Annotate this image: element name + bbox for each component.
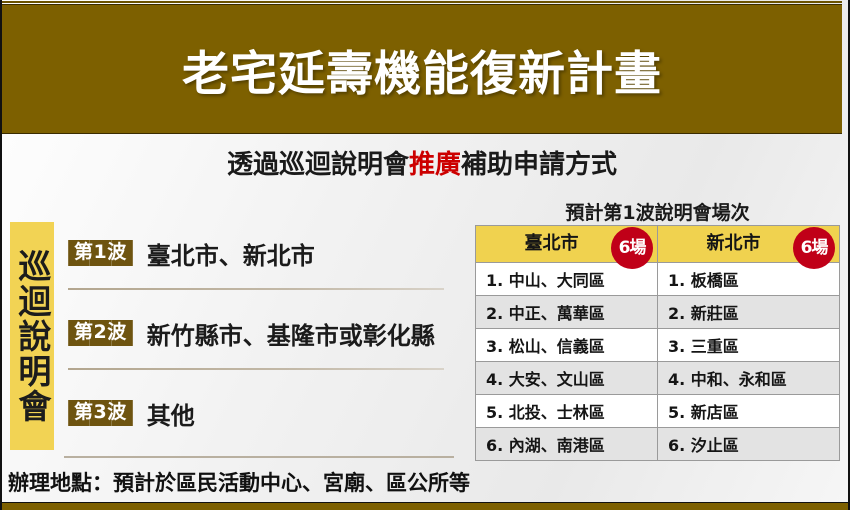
cell-taipei: 6. 內湖、南港區 [476,428,658,461]
schedule-table: 臺北市 6場 新北市 6場 1. 中山、大同區 1. 板橋區 2. 中正、萬華區 [475,225,840,461]
schedule-table-caption: 預計第1波說明會場次 [475,198,840,225]
cell-new-taipei: 6. 汐止區 [658,428,840,461]
title-banner: 老宅延壽機能復新計畫 [2,4,842,134]
table-row: 4. 大安、文山區 4. 中和、永和區 [476,362,840,395]
wave-badge: 第1波 [68,240,133,267]
page-title: 老宅延壽機能復新計畫 [182,35,662,104]
subtitle-before: 透過巡迴說明會 [227,150,409,180]
cell-taipei: 2. 中正、萬華區 [476,296,658,329]
vertical-side-banner: 巡迴說明會 [10,222,54,450]
wave-label: 其他 [147,396,195,431]
wave-label: 新竹縣市、基隆市或彰化縣 [147,316,435,351]
table-row: 5. 北投、士林區 5. 新店區 [476,395,840,428]
footer: 辦理地點：預計於區民活動中心、宮廟、區公所等 [2,462,842,502]
table-row: 2. 中正、萬華區 2. 新莊區 [476,296,840,329]
column-header-taipei: 臺北市 6場 [476,226,658,263]
table-row: 1. 中山、大同區 1. 板橋區 [476,263,840,296]
cell-taipei: 5. 北投、士林區 [476,395,658,428]
cell-new-taipei: 3. 三重區 [658,329,840,362]
cell-new-taipei: 5. 新店區 [658,395,840,428]
schedule-table-body: 1. 中山、大同區 1. 板橋區 2. 中正、萬華區 2. 新莊區 3. 松山、… [476,263,840,461]
cell-new-taipei: 4. 中和、永和區 [658,362,840,395]
wave-badge: 第2波 [68,320,133,347]
subtitle-highlight: 推廣 [409,150,461,180]
wave-list: 第1波 臺北市、新北市 第2波 新竹縣市、基隆市或彰化縣 第3波 其他 [68,226,460,466]
slide-root: 老宅延壽機能復新計畫 透過巡迴說明會推廣補助申請方式 巡迴說明會 第1波 臺北市… [0,0,850,510]
session-count-badge-taipei: 6場 [611,227,653,269]
column-header-taipei-label: 臺北市 [525,233,609,254]
footer-text: 辦理地點：預計於區民活動中心、宮廟、區公所等 [2,467,470,497]
wave-badge: 第3波 [68,400,133,427]
subtitle-after: 補助申請方式 [461,150,617,180]
table-row: 3. 松山、信義區 3. 三重區 [476,329,840,362]
session-count-badge-new-taipei: 6場 [793,227,835,269]
cell-new-taipei: 2. 新莊區 [658,296,840,329]
title-banner-top-edge [2,1,842,3]
cell-taipei: 3. 松山、信義區 [476,329,658,362]
wave-row: 第3波 其他 [68,386,460,466]
wave-row: 第2波 新竹縣市、基隆市或彰化縣 [68,306,460,386]
column-header-new-taipei-label: 新北市 [707,233,791,254]
table-header-row: 臺北市 6場 新北市 6場 [476,226,840,263]
wave-row: 第1波 臺北市、新北市 [68,226,460,306]
wave-divider [68,368,444,370]
schedule-table-head: 臺北市 6場 新北市 6場 [476,226,840,263]
vertical-side-banner-label: 巡迴說明會 [15,249,49,424]
column-header-new-taipei: 新北市 6場 [658,226,840,263]
table-row: 6. 內湖、南港區 6. 汐止區 [476,428,840,461]
wave-divider [68,288,444,290]
wave-label: 臺北市、新北市 [147,236,315,271]
bottom-accent-bar [2,502,848,510]
footer-divider [64,456,454,458]
subtitle: 透過巡迴說明會推廣補助申請方式 [2,144,842,181]
cell-taipei: 4. 大安、文山區 [476,362,658,395]
